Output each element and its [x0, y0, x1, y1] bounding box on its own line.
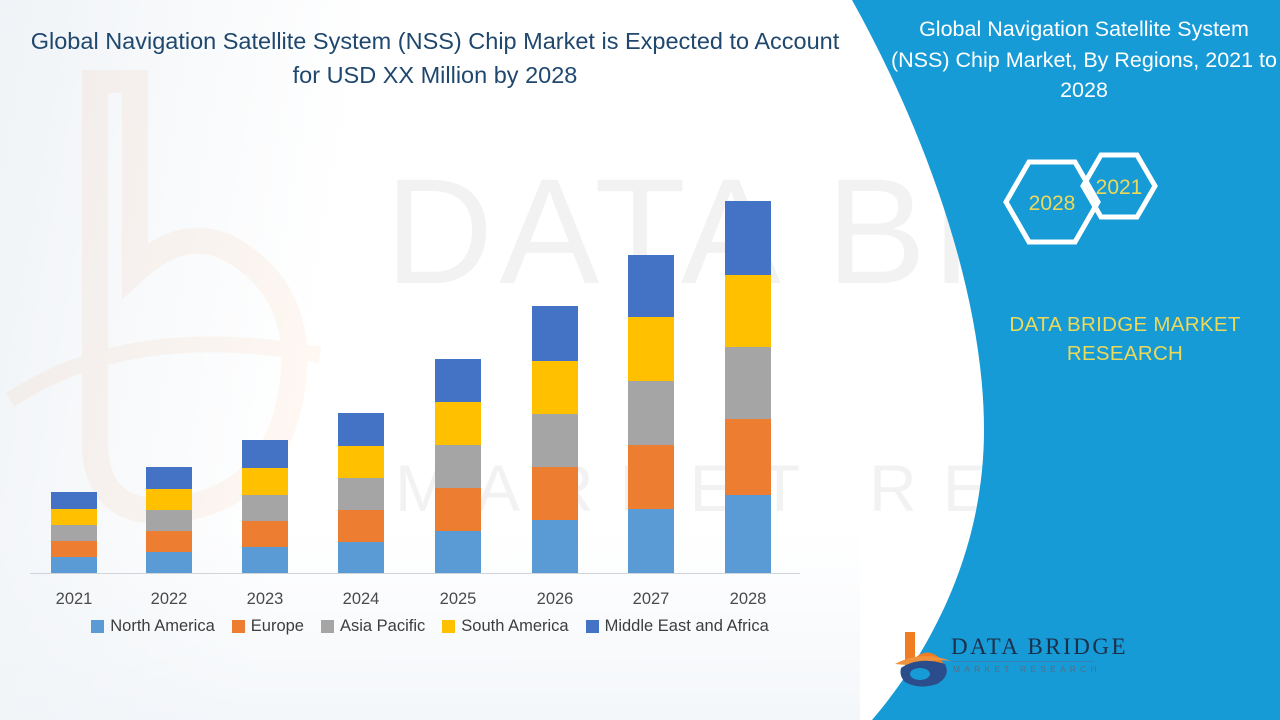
infographic-canvas: DATA BRIDGE MARKET RESEARCH Global Navig…	[0, 0, 1280, 720]
logo-name-text: DATA BRIDGE	[951, 634, 1128, 660]
hexagon-badges: 2028 2021	[975, 140, 1190, 265]
logo-divider-rule	[952, 661, 1094, 662]
panel-title: Global Navigation Satellite System (NSS)…	[888, 14, 1280, 106]
brand-name: DATA BRIDGE MARKET RESEARCH	[960, 310, 1280, 368]
data-bridge-logo: DATA BRIDGE MARKET RESEARCH	[893, 628, 1098, 690]
hexagon-2028-label: 2028	[1029, 192, 1076, 215]
hexagon-2021-label: 2021	[1096, 176, 1143, 199]
data-bridge-b-icon	[893, 628, 953, 690]
logo-subtitle-text: MARKET RESEARCH	[953, 664, 1101, 674]
